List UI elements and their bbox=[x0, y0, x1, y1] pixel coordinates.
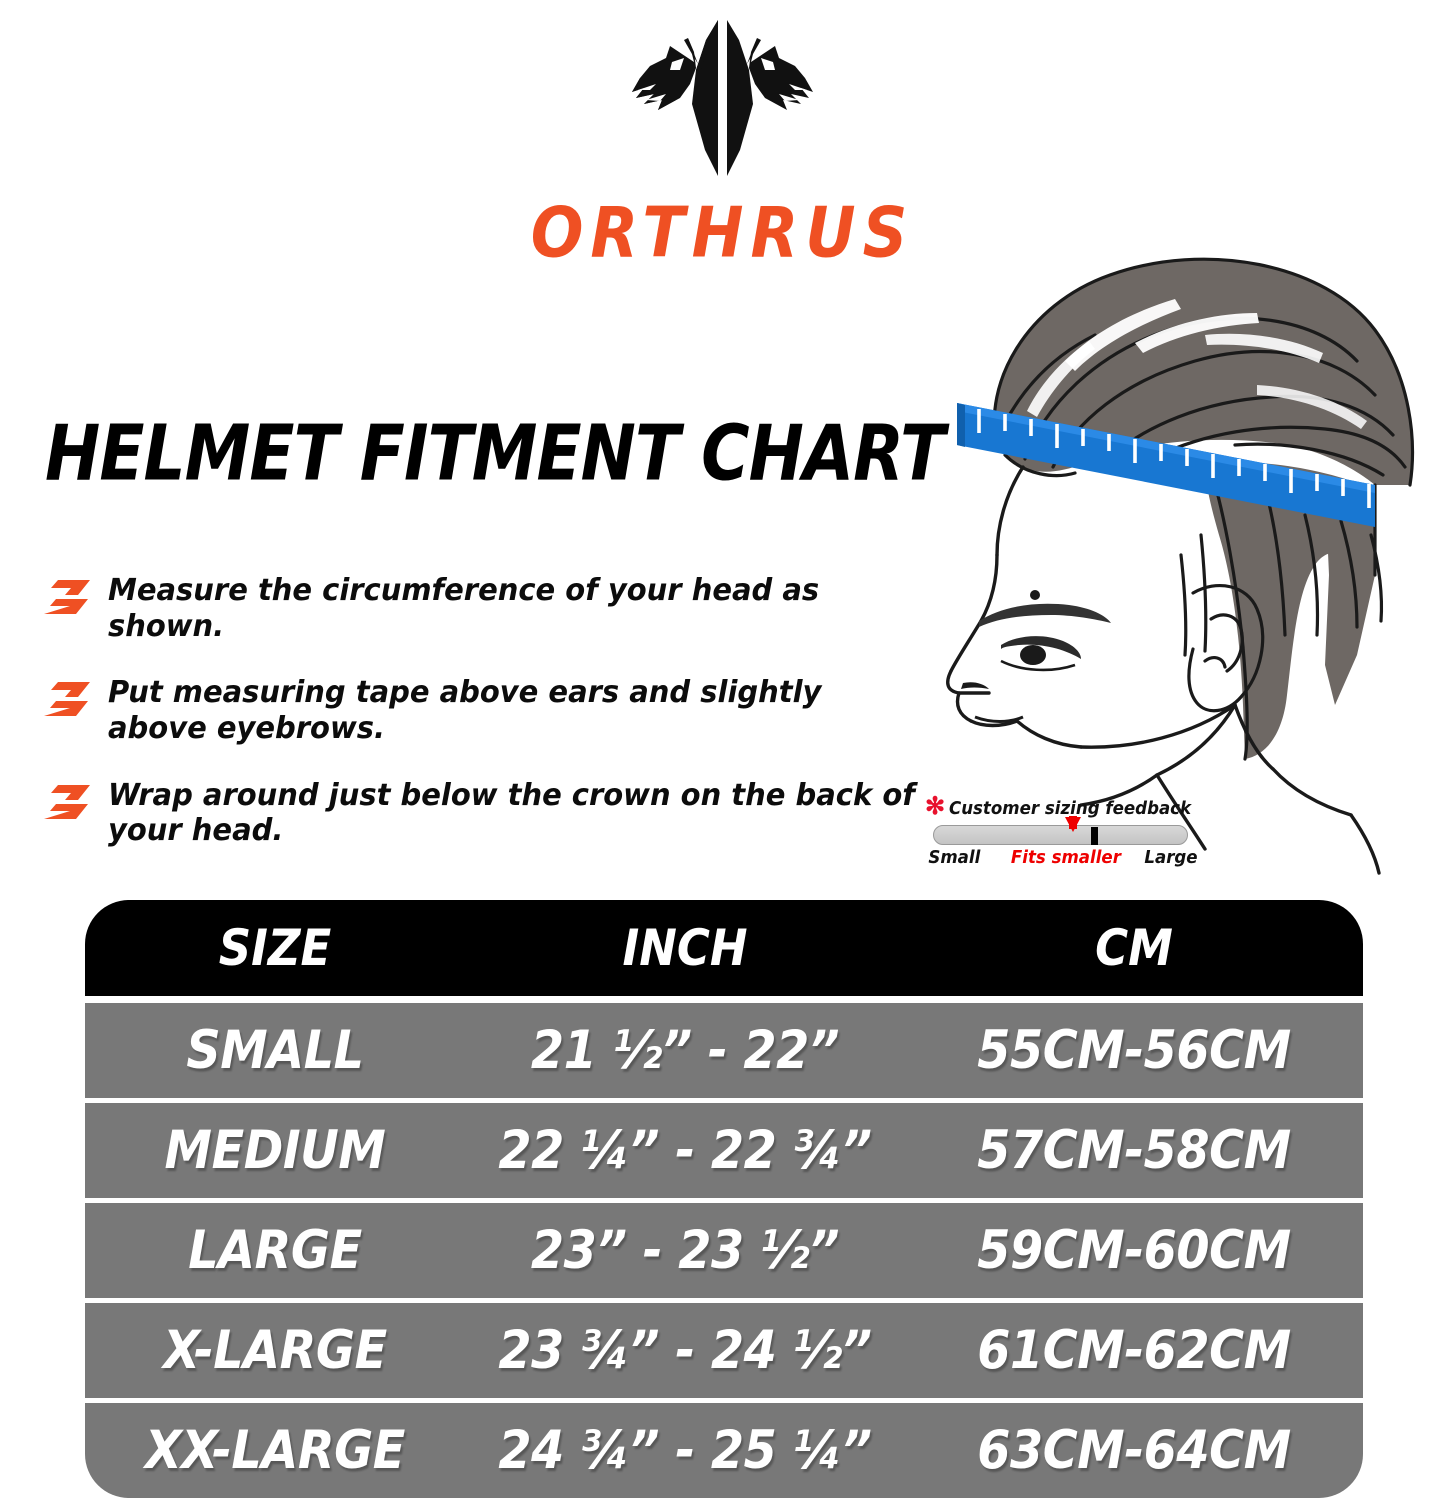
cell-size: X-LARGE bbox=[104, 1320, 446, 1381]
brand-header: ORTHRUS bbox=[0, 8, 1445, 258]
list-item: Measure the circumference of your head a… bbox=[44, 573, 964, 644]
cell-size: MEDIUM bbox=[104, 1120, 446, 1181]
cell-size: SMALL bbox=[104, 1020, 446, 1081]
instruction-list: Measure the circumference of your head a… bbox=[44, 573, 964, 880]
list-item: Put measuring tape above ears and slight… bbox=[44, 675, 964, 746]
feedback-label-large: Large bbox=[1144, 848, 1197, 868]
list-item: Wrap around just below the crown on the … bbox=[44, 778, 964, 849]
table-row: XX-LARGE 24 ¾” - 25 ¼” 63CM-64CM bbox=[85, 1403, 1363, 1498]
cell-cm: 55CM-56CM bbox=[928, 1020, 1340, 1081]
cell-inch: 24 ¾” - 25 ¼” bbox=[487, 1420, 883, 1481]
twin-wolf-heads-diamond-icon bbox=[610, 18, 835, 178]
cell-cm: 59CM-60CM bbox=[928, 1220, 1340, 1281]
head-profile-with-measuring-tape-icon bbox=[905, 235, 1435, 875]
table-row: LARGE 23” - 23 ½” 59CM-60CM bbox=[85, 1203, 1363, 1298]
feedback-label-small: Small bbox=[928, 848, 980, 868]
table-row: X-LARGE 23 ¾” - 24 ½” 61CM-62CM bbox=[85, 1303, 1363, 1398]
table-header-row: SIZE INCH CM bbox=[85, 900, 1363, 996]
feedback-heading: ✻ Customer sizing feedback bbox=[925, 795, 1205, 819]
orthrus-slash-bullet-icon bbox=[44, 782, 90, 822]
cell-inch: 21 ½” - 22” bbox=[487, 1020, 883, 1081]
column-header-cm: CM bbox=[928, 919, 1340, 977]
feedback-slider-track[interactable] bbox=[933, 825, 1188, 845]
feedback-label-center: Fits smaller bbox=[1011, 848, 1121, 868]
cell-size: LARGE bbox=[104, 1220, 446, 1281]
orthrus-slash-bullet-icon bbox=[44, 679, 90, 719]
column-header-inch: INCH bbox=[487, 919, 883, 977]
customer-sizing-feedback: ✻ Customer sizing feedback Small Fits sm… bbox=[925, 795, 1205, 872]
list-item-label: Measure the circumference of your head a… bbox=[108, 573, 921, 644]
cell-inch: 23” - 23 ½” bbox=[487, 1220, 883, 1281]
page-title: HELMET FITMENT CHART bbox=[45, 408, 944, 498]
feedback-marker-arrow-icon bbox=[1065, 817, 1081, 832]
orthrus-slash-bullet-icon bbox=[44, 577, 90, 617]
cell-inch: 23 ¾” - 24 ½” bbox=[487, 1320, 883, 1381]
asterisk-icon: ✻ bbox=[925, 795, 945, 819]
size-table: SIZE INCH CM SMALL 21 ½” - 22” 55CM-56CM… bbox=[85, 900, 1363, 1498]
list-item-label: Put measuring tape above ears and slight… bbox=[108, 675, 821, 746]
feedback-scale-labels: Small Fits smaller Large bbox=[925, 848, 1197, 872]
cell-cm: 57CM-58CM bbox=[928, 1120, 1340, 1181]
cell-cm: 61CM-62CM bbox=[928, 1320, 1340, 1381]
cell-size: XX-LARGE bbox=[104, 1420, 446, 1481]
cell-inch: 22 ¼” - 22 ¾” bbox=[487, 1120, 883, 1181]
table-row: SMALL 21 ½” - 22” 55CM-56CM bbox=[85, 1003, 1363, 1098]
cell-cm: 63CM-64CM bbox=[928, 1420, 1340, 1481]
list-item-label: Wrap around just below the crown on the … bbox=[108, 778, 915, 849]
column-header-size: SIZE bbox=[104, 919, 446, 977]
table-row: MEDIUM 22 ¼” - 22 ¾” 57CM-58CM bbox=[85, 1103, 1363, 1198]
feedback-tick-mark bbox=[1091, 827, 1098, 845]
